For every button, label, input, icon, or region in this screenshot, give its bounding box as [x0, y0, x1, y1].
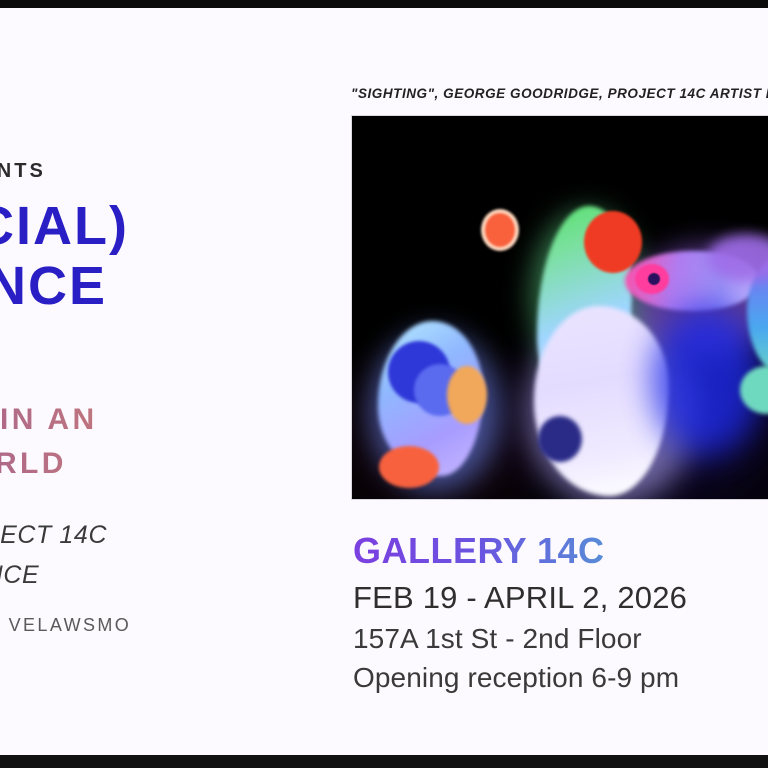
- subheadline-line-1: HAND IN AN: [0, 398, 408, 442]
- letterbox-bar-bottom: [0, 755, 768, 768]
- artwork-canvas: [352, 116, 768, 499]
- gallery-name: GALLERY 14C: [353, 530, 763, 572]
- exhibition-blurb: OF PROJECT 14C RESIDENCE: [0, 516, 408, 595]
- poster-root: C PRESENTS FFICIAL) IGENCE HAND IN AN IC…: [0, 0, 768, 768]
- red-disc: [584, 211, 642, 273]
- gallery-info-block: GALLERY 14C FEB 19 - APRIL 2, 2026 157A …: [353, 530, 763, 694]
- amber-disc: [447, 366, 487, 424]
- subheadline: HAND IN AN IC WORLD: [0, 398, 408, 487]
- orange-foot: [379, 446, 439, 488]
- dark-pupil: [648, 273, 660, 285]
- gallery-dates: FEB 19 - APRIL 2, 2026: [353, 580, 763, 616]
- poster-canvas: C PRESENTS FFICIAL) IGENCE HAND IN AN IC…: [0, 8, 768, 755]
- headline-line-2: IGENCE: [0, 256, 408, 316]
- blurb-line-2: RESIDENCE: [0, 556, 408, 596]
- left-text-column: C PRESENTS FFICIAL) IGENCE HAND IN AN IC…: [0, 8, 358, 755]
- presents-line: C PRESENTS: [0, 160, 358, 183]
- small-orange-orb: [485, 213, 515, 247]
- artwork-image: [351, 115, 768, 500]
- curators-line: CARUSO & VELAWSMO: [0, 615, 408, 636]
- letterbox-bar-top: [0, 0, 768, 8]
- gallery-address: 157A 1st St - 2nd Floor: [353, 623, 763, 655]
- gallery-reception: Opening reception 6-9 pm: [353, 662, 763, 694]
- headline: FFICIAL) IGENCE: [0, 196, 408, 317]
- subheadline-line-2: IC WORLD: [0, 442, 408, 486]
- artwork-caption: "SIGHTING", GEORGE GOODRIDGE, PROJECT 14…: [351, 86, 768, 101]
- navy-foot: [538, 416, 582, 462]
- headline-line-1: FFICIAL): [0, 196, 408, 256]
- blurb-line-1: OF PROJECT 14C: [0, 516, 408, 556]
